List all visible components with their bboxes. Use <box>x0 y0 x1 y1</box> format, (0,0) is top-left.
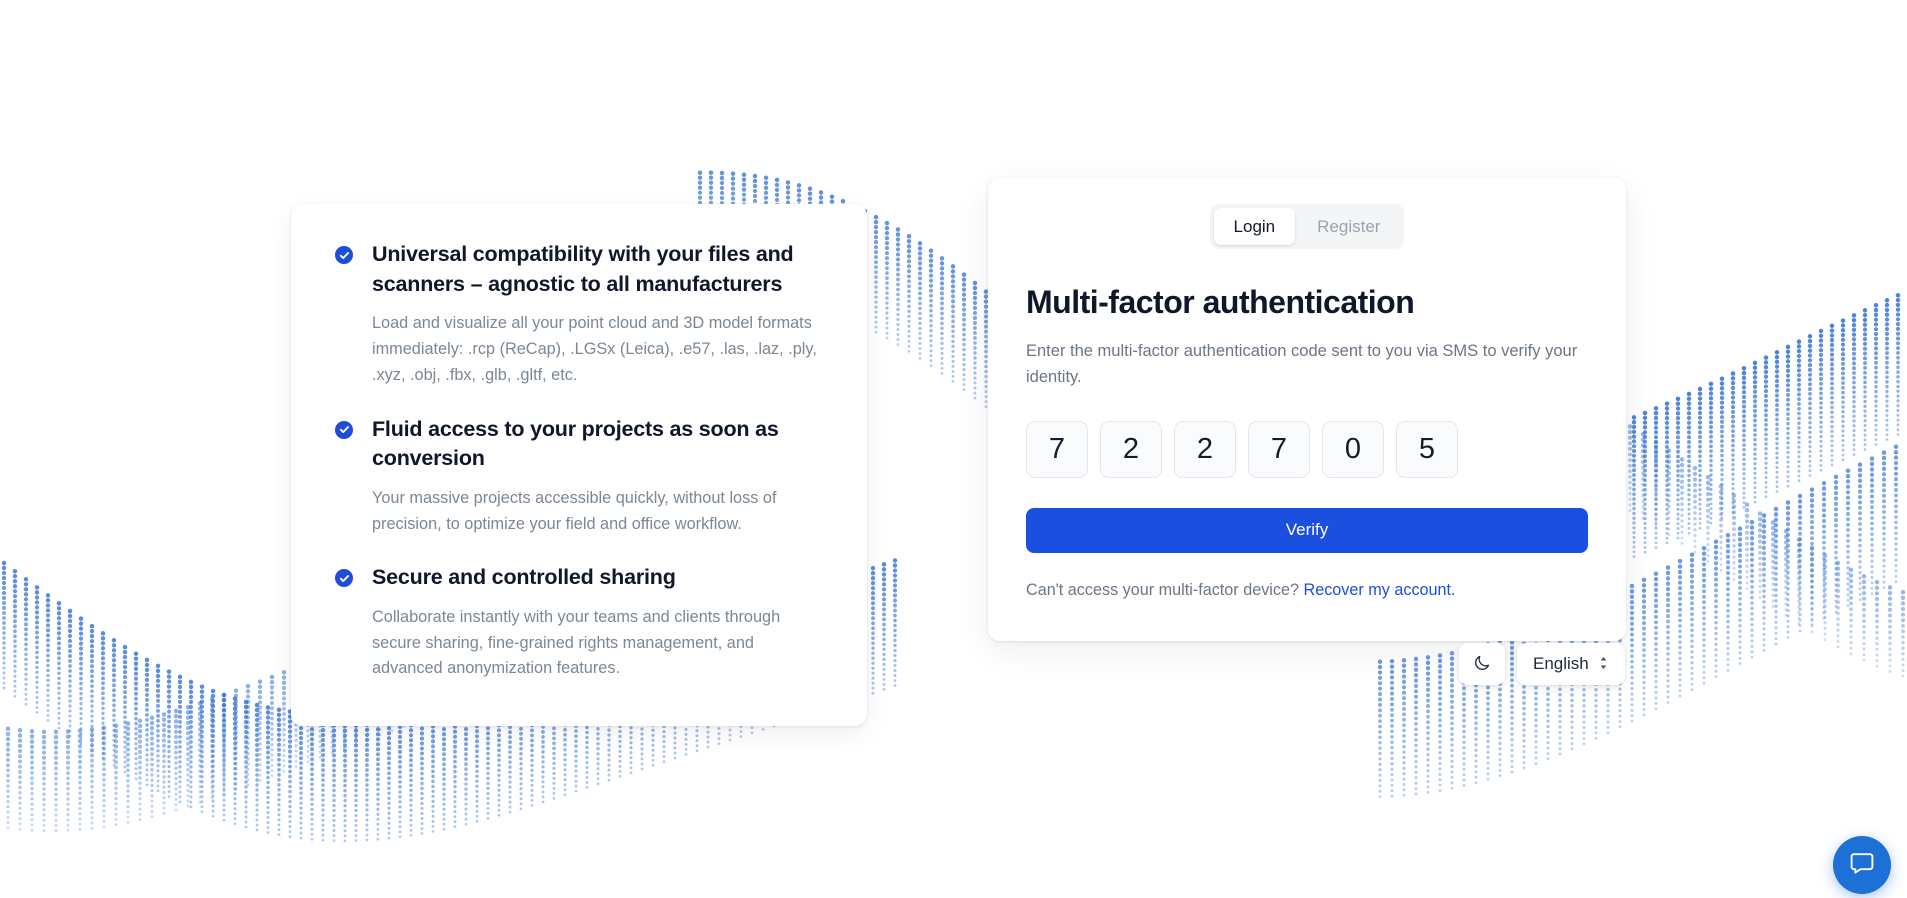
otp-digit-3[interactable] <box>1174 421 1236 478</box>
auth-page: Universal compatibility with your files … <box>0 0 1907 898</box>
support-chat-launcher[interactable] <box>1833 836 1891 894</box>
feature-item: Universal compatibility with your files … <box>335 240 823 389</box>
chevron-up-down-icon <box>1598 655 1609 674</box>
feature-item: Fluid access to your projects as soon as… <box>335 415 823 538</box>
feature-title: Secure and controlled sharing <box>372 563 823 593</box>
feature-title: Fluid access to your projects as soon as… <box>372 415 823 474</box>
theme-toggle-button[interactable] <box>1459 643 1505 685</box>
otp-digit-2[interactable] <box>1100 421 1162 478</box>
chat-bubble-icon <box>1848 849 1876 882</box>
tab-group: Login Register <box>1210 204 1405 249</box>
recover-account-link[interactable]: Recover my account. <box>1304 581 1456 599</box>
footer-controls: English <box>1459 643 1625 685</box>
auth-tabs: Login Register <box>1026 204 1588 249</box>
check-circle-icon <box>335 421 353 439</box>
verify-button[interactable]: Verify <box>1026 508 1588 553</box>
feature-description: Your massive projects accessible quickly… <box>372 486 823 537</box>
otp-digit-4[interactable] <box>1248 421 1310 478</box>
page-title: Multi-factor authentication <box>1026 283 1588 321</box>
feature-description: Collaborate instantly with your teams an… <box>372 605 823 682</box>
otp-digit-5[interactable] <box>1322 421 1384 478</box>
moon-icon <box>1473 653 1492 675</box>
auth-subtitle: Enter the multi-factor authentication co… <box>1026 339 1584 390</box>
tab-register[interactable]: Register <box>1297 208 1400 245</box>
feature-item: Secure and controlled sharing Collaborat… <box>335 563 823 682</box>
language-selector[interactable]: English <box>1517 643 1625 685</box>
auth-card: Login Register Multi-factor authenticati… <box>988 178 1626 641</box>
feature-description: Load and visualize all your point cloud … <box>372 311 823 388</box>
check-circle-icon <box>335 569 353 587</box>
otp-digit-6[interactable] <box>1396 421 1458 478</box>
otp-input-group <box>1026 421 1588 478</box>
recovery-row: Can't access your multi-factor device? R… <box>1026 579 1588 602</box>
feature-title: Universal compatibility with your files … <box>372 240 823 299</box>
check-circle-icon <box>335 246 353 264</box>
recovery-prompt-text: Can't access your multi-factor device? <box>1026 581 1299 599</box>
otp-digit-1[interactable] <box>1026 421 1088 478</box>
language-label: English <box>1533 654 1589 674</box>
tab-login[interactable]: Login <box>1214 208 1296 245</box>
features-card: Universal compatibility with your files … <box>291 204 867 726</box>
